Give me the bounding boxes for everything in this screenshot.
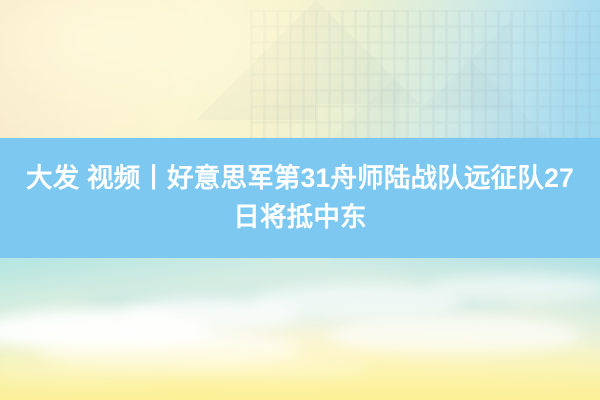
background-facet-shape bbox=[196, 0, 316, 120]
top-background-panel bbox=[0, 0, 600, 140]
cloud-shape bbox=[330, 314, 580, 358]
headline-band: 大发 视频丨好意思军第31舟师陆战队远征队27日将抵中东 bbox=[0, 138, 600, 258]
cloud-shape bbox=[0, 362, 180, 388]
bottom-background-panel bbox=[0, 258, 600, 400]
background-facet-shape bbox=[470, 60, 550, 140]
background-facet-shape bbox=[330, 72, 400, 140]
headline-text: 大发 视频丨好意思军第31舟师陆战队远征队27日将抵中东 bbox=[17, 159, 583, 237]
cloud-shape bbox=[430, 274, 600, 302]
cloud-shape bbox=[170, 354, 370, 384]
banner-image: 大发 视频丨好意思军第31舟师陆战队远征队27日将抵中东 bbox=[0, 0, 600, 400]
